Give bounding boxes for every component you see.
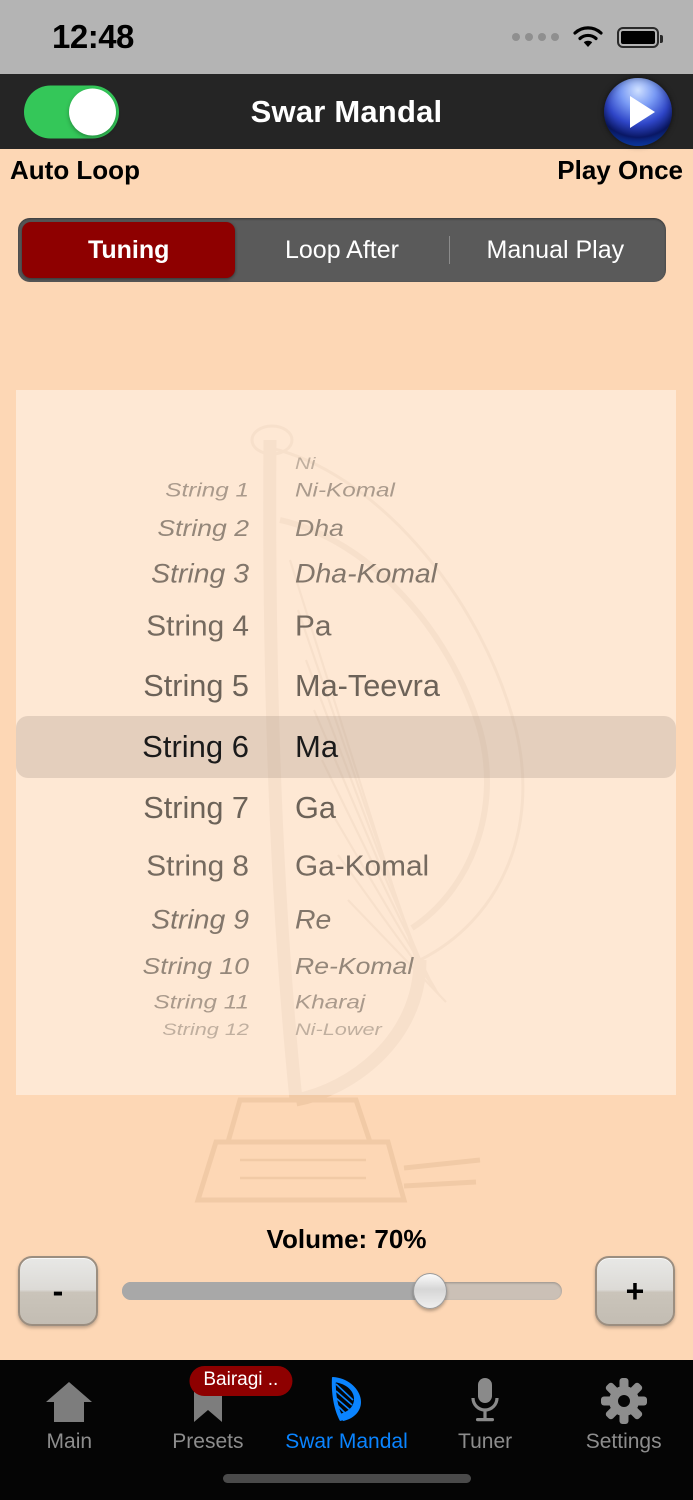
status-bar-time: 12:48 bbox=[52, 18, 134, 56]
picker-note-column: Ni-Komal bbox=[271, 479, 676, 502]
picker-string-value: String 7 bbox=[143, 790, 249, 825]
harp-icon bbox=[323, 1374, 369, 1424]
picker-row[interactable]: String 12Ni-Lower bbox=[16, 1012, 676, 1048]
picker-note-value: Ni-Komal bbox=[295, 479, 395, 501]
tab-settings[interactable]: Settings bbox=[554, 1374, 693, 1454]
tab-swar-mandal[interactable]: Swar Mandal bbox=[277, 1374, 416, 1454]
toggle-knob bbox=[69, 88, 116, 135]
picker-row[interactable]: String 1Ni-Komal bbox=[16, 471, 676, 510]
volume-slider-thumb[interactable] bbox=[413, 1273, 447, 1309]
picker-row[interactable]: String 2Dha bbox=[16, 507, 676, 549]
picker-note-value: Ni-Lower bbox=[295, 1020, 382, 1039]
home-indicator-icon bbox=[223, 1474, 471, 1483]
navigation-bar: Swar Mandal bbox=[0, 74, 693, 149]
picker-string-value: String 8 bbox=[146, 850, 249, 882]
picker-row[interactable]: String 10Re-Komal bbox=[16, 945, 676, 987]
segment-tuning-label: Tuning bbox=[88, 236, 169, 265]
picker-note-column: Ga-Komal bbox=[271, 850, 676, 883]
signal-dots-icon bbox=[512, 33, 559, 41]
picker-string-value: String 10 bbox=[143, 953, 249, 979]
minus-icon: - bbox=[53, 1275, 64, 1307]
picker-note-value: Ma-Teevra bbox=[295, 668, 440, 703]
play-icon bbox=[630, 96, 655, 128]
picker-row[interactable]: String 7Ga bbox=[16, 784, 676, 832]
volume-increase-button[interactable]: + bbox=[595, 1256, 675, 1326]
home-icon bbox=[44, 1374, 94, 1424]
picker-string-column: String 9 bbox=[16, 905, 271, 936]
wifi-icon bbox=[573, 26, 603, 48]
segment-loop-after[interactable]: Loop After bbox=[235, 222, 448, 278]
picker-selection-band bbox=[16, 716, 676, 778]
mode-segmented-control[interactable]: Tuning Loop After Manual Play bbox=[18, 218, 666, 282]
picker-string-column: String 10 bbox=[16, 953, 271, 980]
status-bar: 12:48 bbox=[0, 0, 693, 74]
picker-string-value: String 11 bbox=[154, 992, 249, 1014]
picker-string-column: String 3 bbox=[16, 559, 271, 590]
auto-loop-toggle[interactable] bbox=[24, 85, 119, 138]
auto-loop-label: Auto Loop bbox=[10, 155, 140, 186]
picker-note-column: Ma-Teevra bbox=[271, 668, 676, 704]
presets-badge[interactable]: Bairagi .. bbox=[189, 1366, 292, 1396]
picker-note-column: Ga bbox=[271, 790, 676, 826]
segment-manual-play[interactable]: Manual Play bbox=[449, 222, 662, 278]
segment-loop-after-label: Loop After bbox=[285, 236, 399, 265]
play-once-label: Play Once bbox=[557, 155, 683, 186]
picker-string-column: String 2 bbox=[16, 514, 271, 541]
picker-string-value: String 12 bbox=[162, 1020, 249, 1039]
picker-string-value: String 4 bbox=[146, 611, 249, 643]
volume-slider[interactable] bbox=[122, 1282, 562, 1300]
tab-presets-label: Presets bbox=[172, 1430, 243, 1454]
picker-note-column: Ni-Lower bbox=[271, 1020, 676, 1039]
picker-string-column: String 5 bbox=[16, 668, 271, 704]
picker-string-column: String 1 bbox=[16, 479, 271, 502]
picker-string-column: String 4 bbox=[16, 611, 271, 644]
segment-manual-play-label: Manual Play bbox=[487, 236, 625, 265]
picker-row[interactable]: String 3Dha-Komal bbox=[16, 552, 676, 597]
microphone-icon bbox=[466, 1374, 504, 1424]
picker-note-column: Dha-Komal bbox=[271, 559, 676, 590]
picker-note-value: Pa bbox=[295, 611, 331, 643]
tab-presets[interactable]: Bairagi .. Presets bbox=[139, 1374, 278, 1454]
app-screen: 12:48 Swar Mandal Auto Loop P bbox=[0, 0, 693, 1500]
picker-row[interactable]: String 8Ga-Komal bbox=[16, 843, 676, 890]
tab-main-label: Main bbox=[47, 1430, 93, 1454]
picker-note-value: Dha-Komal bbox=[295, 559, 437, 589]
status-bar-indicators bbox=[512, 26, 659, 48]
segment-tuning[interactable]: Tuning bbox=[22, 222, 235, 278]
picker-row[interactable]: String 4Pa bbox=[16, 604, 676, 651]
picker-note-column: Re bbox=[271, 905, 676, 936]
picker-string-value: String 9 bbox=[151, 905, 249, 935]
picker-string-value: String 3 bbox=[151, 559, 249, 589]
picker-note-value: Ga-Komal bbox=[295, 850, 429, 882]
picker-row[interactable]: String 5Ma-Teevra bbox=[16, 662, 676, 710]
picker-string-column: String 8 bbox=[16, 850, 271, 883]
picker-note-value: Ga bbox=[295, 790, 336, 825]
picker-note-value: Re bbox=[295, 905, 331, 935]
tab-settings-label: Settings bbox=[586, 1430, 662, 1454]
picker-string-column: String 7 bbox=[16, 790, 271, 826]
volume-slider-fill bbox=[122, 1282, 430, 1300]
picker-string-column: String 12 bbox=[16, 1020, 271, 1039]
picker-string-value: String 2 bbox=[157, 514, 249, 540]
tab-bar: Main Bairagi .. Presets Swar Mandal bbox=[0, 1360, 693, 1500]
volume-decrease-button[interactable]: - bbox=[18, 1256, 98, 1326]
tab-swar-mandal-label: Swar Mandal bbox=[285, 1430, 408, 1454]
picker-note-value: Kharaj bbox=[295, 992, 365, 1014]
tab-tuner-label: Tuner bbox=[458, 1430, 512, 1454]
picker-string-value: String 5 bbox=[143, 668, 249, 703]
picker-row[interactable]: String 9Re bbox=[16, 898, 676, 943]
picker-note-column: Re-Komal bbox=[271, 953, 676, 980]
battery-full-icon bbox=[617, 27, 659, 48]
picker-string-value: String 1 bbox=[165, 479, 249, 501]
picker-note-column: Dha bbox=[271, 514, 676, 541]
page-title: Swar Mandal bbox=[251, 94, 443, 130]
picker-note-value: Dha bbox=[295, 514, 344, 540]
control-labels-row: Auto Loop Play Once bbox=[0, 149, 693, 191]
play-once-button[interactable] bbox=[604, 78, 672, 146]
picker-note-column: Pa bbox=[271, 611, 676, 644]
tab-main[interactable]: Main bbox=[0, 1374, 139, 1454]
picker-note-value: Re-Komal bbox=[295, 953, 413, 979]
plus-icon: + bbox=[626, 1275, 645, 1307]
tab-tuner[interactable]: Tuner bbox=[416, 1374, 555, 1454]
volume-label: Volume: 70% bbox=[0, 1224, 693, 1255]
gear-icon bbox=[601, 1374, 647, 1424]
